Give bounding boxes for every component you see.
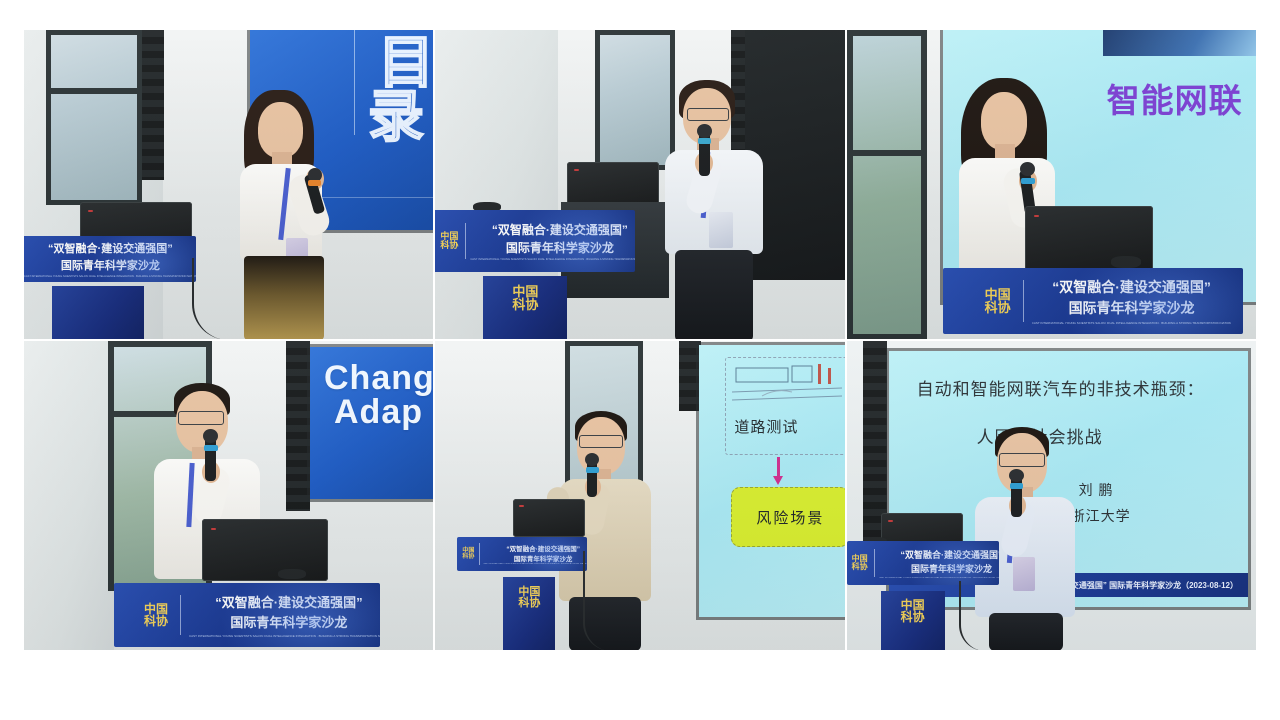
laptop — [513, 499, 585, 537]
lectern-sign: “双智融合·建设交通强国” 国际青年科学家沙龙 CAST INTERNATION… — [24, 236, 196, 282]
lectern-sign: 中国科协 “双智融合·建设交通强国” 国际青年科学家沙龙 CAST INTERN… — [114, 583, 380, 647]
laptop-lid — [202, 519, 328, 581]
badge — [1013, 557, 1035, 591]
screen-image-strip — [1103, 30, 1256, 56]
cable — [959, 581, 985, 650]
wall-left-section — [24, 341, 114, 650]
screen-text-line-2: Adap — [334, 395, 423, 431]
laptop-logo-dot — [211, 528, 216, 530]
lectern-base: 中国科协 — [881, 591, 945, 650]
lectern-sign-line1: “双智融合·建设交通强国” — [24, 240, 196, 256]
lectern: 中国科协 “双智融合·建设交通强国” 国际青年科学家沙龙 CAST INTERN… — [114, 583, 380, 650]
lectern-sign-line2: 国际青年科学家沙龙 — [1032, 298, 1232, 318]
cable — [583, 551, 611, 650]
photo-collage-page: 目 录 — [0, 0, 1280, 720]
sign-divider — [874, 549, 875, 577]
road-test-diagram-icon — [732, 362, 842, 406]
window-blinds — [863, 341, 887, 541]
lectern-sign: 中国科协 “双智融合·建设交通强国” 国际青年科学家沙龙 CAST INTERN… — [457, 537, 587, 571]
microphone-head — [1020, 162, 1035, 176]
lectern: “双智融合·建设交通强国” 国际青年科学家沙龙 CAST INTERNATION… — [24, 230, 196, 339]
sign-divider — [479, 543, 480, 565]
slide-title-line1: 自动和智能网联汽车的非技术瓶颈： — [917, 381, 1205, 399]
head — [258, 102, 303, 158]
lectern-sign-line2: 国际青年科学家沙龙 — [189, 612, 380, 631]
lectern-sign-text: “双智融合·建设交通强国” 国际青年科学家沙龙 CAST INTERNATION… — [189, 592, 380, 638]
lectern-sign-line1: “双智融合·建设交通强国” — [483, 543, 587, 553]
slide-node-bottom-label: 风险场景 — [756, 507, 824, 528]
projection-screen: 道路测试 风险场景 — [699, 345, 844, 617]
photo-panel-5[interactable]: 道路测试 风险场景 — [435, 341, 844, 650]
glasses-icon — [999, 453, 1045, 467]
photo-panel-4[interactable]: Chang Adap — [24, 341, 433, 650]
lectern-sign-text: “双智融合·建设交通强国” 国际青年科学家沙龙 CAST INTERNATION… — [483, 543, 587, 565]
microphone-ring — [308, 180, 321, 186]
lectern-sign-line2: 国际青年科学家沙龙 — [879, 562, 999, 575]
laptop-logo-dot — [88, 210, 93, 212]
lectern-sign-text: “双智融合·建设交通强国” 国际青年科学家沙龙 CAST INTERNATION… — [470, 221, 635, 261]
skirt — [244, 256, 324, 339]
lectern-sign: 中国科协 “双智融合·建设交通强国” 国际青年科学家沙龙 CAST INTERN… — [943, 268, 1243, 334]
lectern-sign-text: “双智融合·建设交通强国” 国际青年科学家沙龙 CAST INTERNATION… — [1032, 277, 1243, 325]
lectern-sign: 中国科协 “双智融合·建设交通强国” 国际青年科学家沙龙 CAST INTERN… — [435, 210, 635, 272]
laptop-logo-dot — [574, 169, 579, 171]
photo-panel-2[interactable]: 中国科协 “双智融合·建设交通强国” 国际青年科学家沙龙 CAST INTERN… — [435, 30, 844, 339]
desk-microphone — [1111, 256, 1141, 268]
screen-text-line-1: Chang — [324, 361, 433, 397]
sign-divider — [180, 595, 181, 635]
lectern-sign: 中国科协 “双智融合·建设交通强国” 国际青年科学家沙龙 CAST INTERN… — [847, 541, 999, 585]
slide-node-top-label: 道路测试 — [734, 420, 798, 436]
window-mullion — [51, 88, 137, 94]
lectern-base — [52, 286, 144, 339]
projection-screen: Chang Adap — [310, 347, 433, 499]
lectern-sign-line3: CAST INTERNATIONAL YOUNG SCIENTISTS SALO… — [189, 634, 380, 638]
lectern: 中国科协 “双智融合·建设交通强国” 国际青年科学家沙龙 CAST INTERN… — [435, 210, 635, 339]
lectern-sign-line3: CAST INTERNATIONAL YOUNG SCIENTISTS SALO… — [879, 577, 999, 579]
microphone-ring — [204, 445, 218, 451]
cast-logo-base: 中国科协 — [510, 285, 540, 311]
lectern-sign-line1: “双智融合·建设交通强国” — [879, 548, 999, 561]
lectern-sign-line1: “双智融合·建设交通强国” — [1032, 277, 1232, 297]
cast-logo-base: 中国科协 — [899, 599, 927, 623]
glasses-icon — [178, 411, 224, 425]
microphone-ring — [1021, 178, 1035, 184]
lectern-sign-line3: CAST INTERNATIONAL YOUNG SCIENTISTS SALO… — [470, 258, 635, 261]
lectern-sign-line2: 国际青年科学家沙龙 — [24, 257, 196, 273]
lectern-sign-line3: CAST INTERNATIONAL YOUNG SCIENTISTS SALO… — [24, 275, 196, 278]
microphone-head — [1009, 469, 1024, 482]
lectern-sign-line3: CAST INTERNATIONAL YOUNG SCIENTISTS SALO… — [483, 563, 587, 565]
lectern: 中国科协 “双智融合·建设交通强国” 国际青年科学家沙龙 CAST INTERN… — [457, 537, 587, 650]
lectern: 中国科协 “双智融合·建设交通强国” 国际青年科学家沙龙 CAST INTERN… — [943, 268, 1243, 339]
speaker-figure — [220, 90, 360, 339]
laptop — [202, 519, 328, 581]
cast-logo: 中国科协 — [437, 232, 461, 250]
lectern-sign-line2: 国际青年科学家沙龙 — [483, 553, 587, 563]
desk-microphone — [278, 569, 306, 579]
lectern-sign-line1: “双智融合·建设交通强国” — [470, 221, 635, 238]
lectern-base: 中国科协 — [483, 276, 567, 339]
window-frame — [46, 30, 142, 205]
microphone-ring — [698, 138, 711, 144]
cast-logo-base: 中国科协 — [516, 587, 542, 609]
photo-panel-6[interactable]: 自动和智能网联汽车的非技术瓶颈： 人因和社会挑战 刘 鹏 浙江大学 合·建设交通… — [847, 341, 1256, 650]
window-pane — [853, 36, 921, 334]
screen-text-line-1: 目 — [378, 34, 433, 93]
head — [981, 92, 1027, 150]
sign-divider — [465, 223, 466, 259]
slide-node-bottom: 风险场景 — [731, 487, 844, 547]
slide-node-top: 道路测试 — [725, 357, 844, 455]
photo-panel-3[interactable]: 智能网联 中国科协 — [847, 30, 1256, 339]
lectern-sign-line1: “双智融合·建设交通强国” — [189, 592, 380, 611]
speaker-figure — [657, 80, 797, 339]
lectern-sign-line2: 国际青年科学家沙龙 — [470, 239, 635, 256]
window-blinds — [142, 30, 164, 180]
trousers — [675, 250, 753, 339]
microphone-ring — [1010, 483, 1023, 489]
laptop-logo-dot — [1034, 215, 1039, 217]
cast-logo: 中国科协 — [140, 603, 172, 627]
photo-panel-1[interactable]: 目 录 — [24, 30, 433, 339]
badge — [709, 212, 733, 248]
lectern-base: 中国科协 — [503, 577, 555, 650]
lectern-sign-line3: CAST INTERNATIONAL YOUNG SCIENTISTS SALO… — [1032, 321, 1232, 325]
window-blinds — [679, 341, 701, 411]
cast-logo: 中国科协 — [460, 548, 476, 560]
lectern-sign-text: “双智融合·建设交通强国” 国际青年科学家沙龙 CAST INTERNATION… — [879, 548, 999, 579]
flow-arrow-icon — [777, 457, 780, 477]
trousers — [989, 613, 1063, 650]
screen-text-line-1: 智能网联 — [1107, 84, 1243, 119]
glasses-icon — [579, 435, 623, 448]
sign-divider — [1023, 280, 1024, 322]
cast-logo: 中国科协 — [981, 288, 1015, 314]
window-pane — [51, 35, 137, 200]
lectern-sign-text: “双智融合·建设交通强国” 国际青年科学家沙龙 CAST INTERNATION… — [24, 240, 196, 278]
microphone-head — [203, 429, 218, 443]
laptop-logo-dot — [519, 505, 524, 507]
window-frame — [847, 30, 927, 339]
cast-logo: 中国科协 — [850, 555, 870, 571]
window-mullion — [853, 150, 921, 156]
microphone-ring — [586, 467, 599, 473]
photo-grid: 目 录 — [24, 30, 1256, 650]
laptop-lid — [513, 499, 585, 537]
glasses-icon — [687, 108, 729, 121]
laptop-logo-dot — [888, 520, 893, 522]
screen-text-line-2: 录 — [368, 88, 426, 147]
